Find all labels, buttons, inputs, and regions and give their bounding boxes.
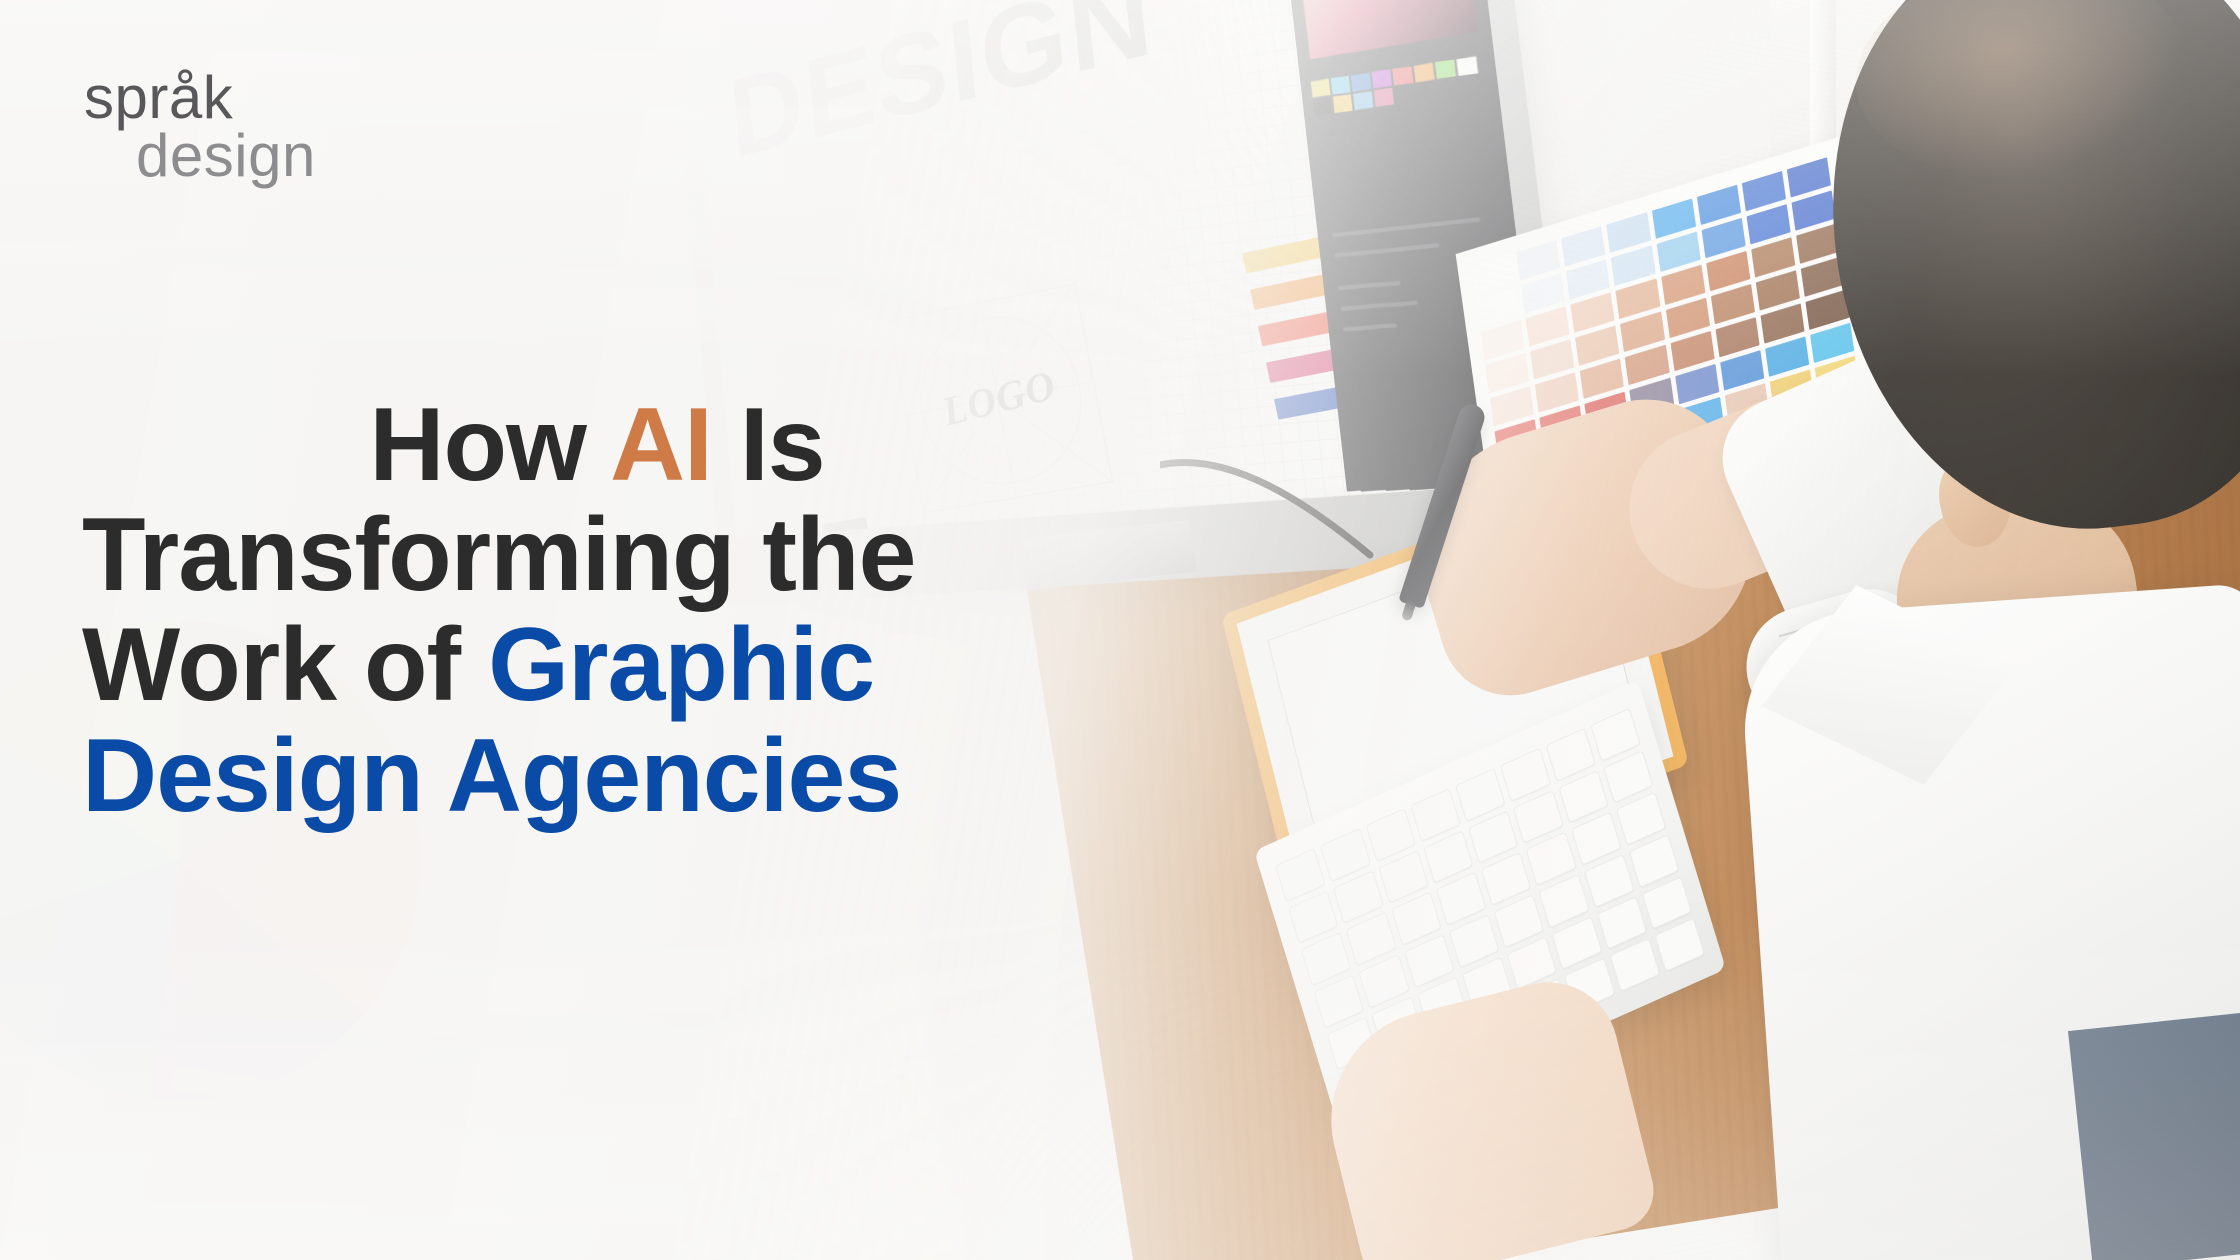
headline-line-4: Design Agencies (82, 721, 1112, 831)
brand-logo-line-1: språk (84, 70, 316, 126)
blog-hero-banner: DESIGN LOGO (0, 0, 2240, 1260)
brand-logo-line-2: design (136, 128, 316, 184)
headline-accent-graphic: Graphic (488, 607, 874, 723)
headline-text-work-of: Work of (82, 607, 488, 723)
headline-line-3: Work of Graphic (82, 610, 1112, 720)
headline-text-is: Is (712, 387, 825, 503)
headline-accent-ai: AI (610, 387, 712, 503)
brand-logo[interactable]: språk design (84, 70, 316, 185)
banner-content: språk design How AI Is Transforming the … (0, 0, 2240, 1260)
page-title: How AI Is Transforming the Work of Graph… (82, 390, 1112, 831)
headline-line-1: How AI Is (82, 390, 1112, 500)
headline-text-how: How (369, 387, 610, 503)
headline-line-2: Transforming the (82, 500, 1112, 610)
